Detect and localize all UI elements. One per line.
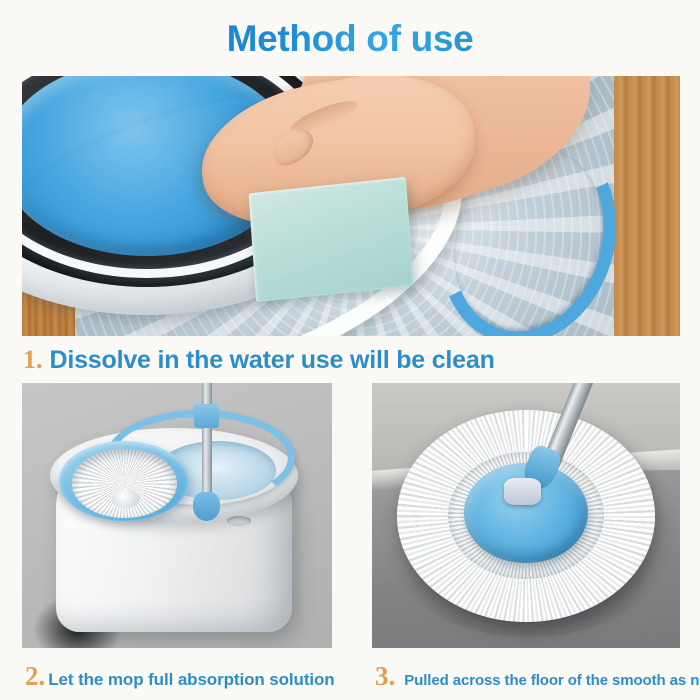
pole-base-connector xyxy=(193,492,221,521)
mop-head-clip xyxy=(504,478,541,505)
step-2-text: Let the mop full absorption solution xyxy=(48,670,334,690)
spin-basket xyxy=(72,449,177,518)
page-title: Method of use xyxy=(227,18,474,60)
pole-blue-collar xyxy=(194,404,219,428)
step-2-image xyxy=(22,383,332,648)
mop-pole xyxy=(202,383,212,505)
step-3-number: 3. xyxy=(375,661,395,692)
step-3-caption: 3. Pulled across the floor of the smooth… xyxy=(375,661,700,692)
cleaning-tablet xyxy=(249,177,414,302)
step-1-caption: 1. Dissolve in the water use will be cle… xyxy=(23,345,495,375)
step-2-number: 2. xyxy=(25,661,45,692)
scene-mop-head-on-floor xyxy=(372,383,680,648)
scene-bucket-with-mop-pole xyxy=(22,383,332,648)
page-title-container: Method of use xyxy=(0,18,700,60)
scene-bucket-with-tablet xyxy=(22,76,680,336)
step-1-number: 1. xyxy=(23,345,43,375)
step-3-image xyxy=(372,383,680,648)
step-1-image xyxy=(22,76,680,336)
step-1-text: Dissolve in the water use will be clean xyxy=(50,346,495,375)
step-2-caption: 2. Let the mop full absorption solution xyxy=(25,661,335,692)
spin-basket-hub xyxy=(112,489,140,508)
step-3-text: Pulled across the floor of the smooth as… xyxy=(404,672,700,689)
